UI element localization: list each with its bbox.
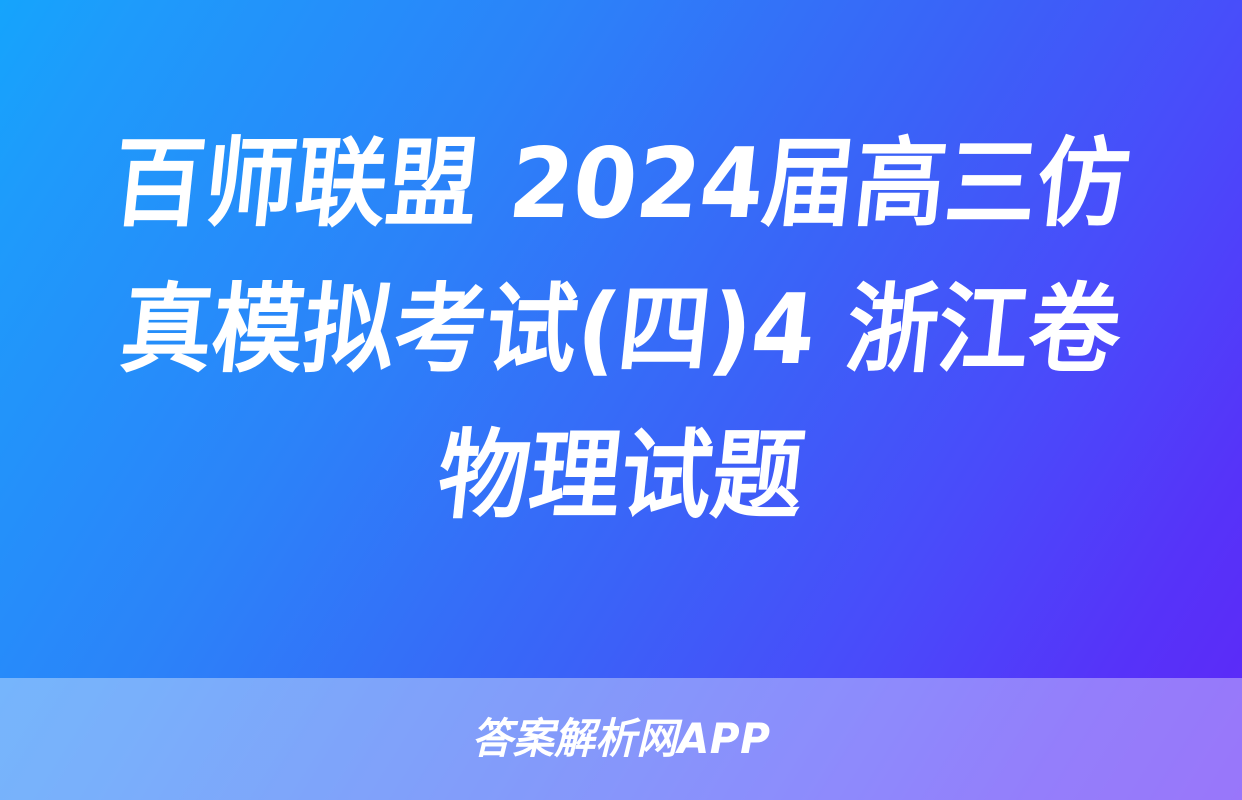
- title-line-2: 真模拟考试(四)4 浙江卷: [95, 257, 1146, 403]
- title-block: 百师联盟 2024届高三仿 真模拟考试(四)4 浙江卷 物理试题: [0, 0, 1242, 678]
- poster-canvas: 百师联盟 2024届高三仿 真模拟考试(四)4 浙江卷 物理试题 答案解析网AP…: [0, 0, 1242, 800]
- title-line-1: 百师联盟 2024届高三仿: [95, 111, 1146, 257]
- footer-brand-band: 答案解析网APP: [0, 678, 1242, 800]
- brand-label: 答案解析网APP: [472, 716, 771, 762]
- title-line-3: 物理试题: [95, 403, 1146, 549]
